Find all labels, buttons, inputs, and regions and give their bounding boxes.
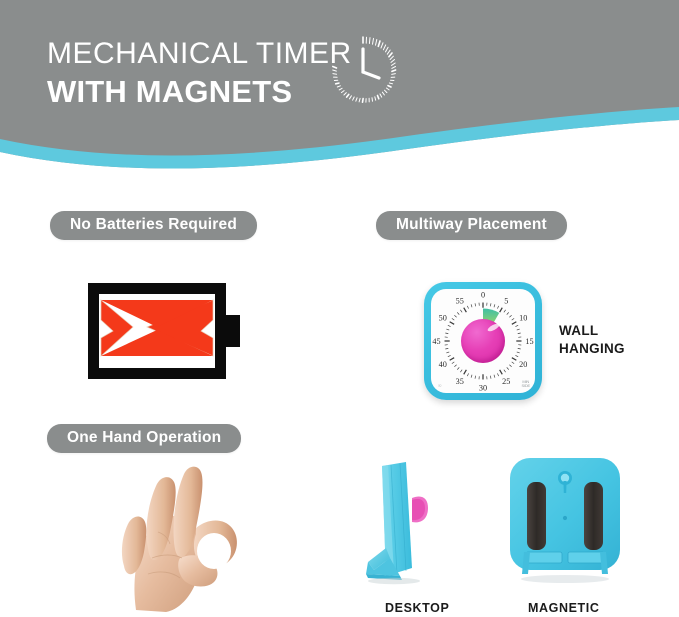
- battery-terminal: [226, 315, 240, 347]
- dial-number: 40: [439, 360, 447, 369]
- ok-hand-graphic: [118, 462, 288, 612]
- header-title-block: MECHANICAL TIMER WITH MAGNETS: [47, 38, 352, 110]
- dial-number: 55: [456, 297, 464, 306]
- label-desktop: DESKTOP: [385, 601, 449, 615]
- dial-number: 45: [432, 337, 440, 346]
- badge-no-batteries-required: No Batteries Required: [50, 211, 257, 240]
- badge-one-hand-operation: One Hand Operation: [47, 424, 241, 453]
- timer-side-graphic: [360, 450, 480, 590]
- timer-face: 0510152025303540455055 ☉ MINSIDE: [431, 289, 535, 393]
- dial-number: 30: [479, 383, 487, 392]
- battery-crossed-out-icon: [88, 283, 240, 379]
- timer-side-marking: MINSIDE: [521, 380, 530, 388]
- timer-knob[interactable]: [461, 319, 505, 363]
- page-title-line-1: MECHANICAL TIMER: [47, 38, 352, 70]
- header-banner: MECHANICAL TIMER WITH MAGNETS: [0, 0, 679, 170]
- dial-number: 35: [456, 377, 464, 386]
- knob-highlight: [487, 322, 501, 333]
- dial-number: 5: [504, 297, 508, 306]
- page-title-line-2: WITH MAGNETS: [47, 75, 352, 110]
- timer-front-view: 0510152025303540455055 ☉ MINSIDE: [424, 282, 542, 400]
- infographic-page: MECHANICAL TIMER WITH MAGNETS No Batteri…: [0, 0, 679, 617]
- ok-hand-icon: [118, 462, 288, 612]
- label-magnetic: MAGNETIC: [528, 601, 599, 615]
- wall-hanging-line-2: HANGING: [559, 340, 625, 358]
- badge-multiway-placement: Multiway Placement: [376, 211, 567, 240]
- timer-desktop-side-view: [360, 450, 480, 590]
- wall-hanging-line-1: WALL: [559, 322, 625, 340]
- dial-number: 0: [481, 290, 485, 299]
- dial-number: 20: [519, 360, 527, 369]
- dial-number: 15: [525, 337, 533, 346]
- dial-number: 50: [439, 314, 447, 323]
- dial-number: 25: [502, 377, 510, 386]
- wall-hanging-caption: WALL HANGING: [559, 322, 625, 358]
- timer-magnetic-back-view: [506, 452, 624, 590]
- timer-brand-logo: ☉: [438, 384, 441, 388]
- red-x-mark: [99, 294, 215, 368]
- timer-back-graphic: [506, 452, 624, 590]
- dial-number: 10: [519, 314, 527, 323]
